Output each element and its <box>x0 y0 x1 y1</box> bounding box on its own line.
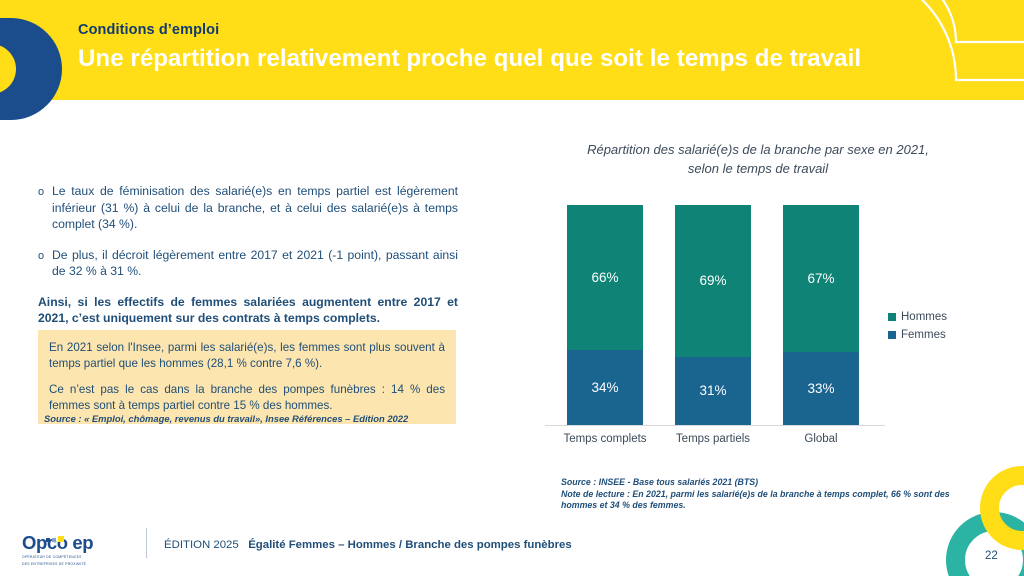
logo-tagline-line-2: DES ENTREPRISES DE PROXIMITÉ <box>22 562 114 567</box>
footer-document-label: Égalité Femmes – Hommes / Branche des po… <box>248 539 571 551</box>
x-axis-tick-label: Temps partiels <box>658 433 768 445</box>
bar-group-temps-partiels[interactable]: 69% 31% Temps partiels <box>675 205 751 425</box>
x-axis-tick-label: Temps complets <box>550 433 660 445</box>
footer-divider <box>146 528 147 558</box>
chart-title: Répartition des salarié(e)s de la branch… <box>528 140 988 178</box>
bar-group-global[interactable]: 67% 33% Global <box>783 205 859 425</box>
bar-segment-hommes[interactable]: 67% <box>783 205 859 352</box>
legend-label: Hommes <box>901 311 947 323</box>
footer-text: ÉDITION 2025 Égalité Femmes – Hommes / B… <box>164 539 572 551</box>
header-text-block: Conditions d’emploi Une répartition rela… <box>78 21 958 75</box>
logo-dots-icon <box>46 524 66 542</box>
chart-source-line-1: Source : INSEE - Base tous salariés 2021… <box>561 477 961 489</box>
chart-title-line-1: Répartition des salarié(e)s de la branch… <box>587 142 929 157</box>
chart-x-axis <box>545 425 885 426</box>
bullet-item: o Le taux de féminisation des salarié(e)… <box>38 183 458 233</box>
legend-label: Femmes <box>901 329 946 341</box>
bullet-marker-icon: o <box>38 247 52 265</box>
legend-swatch-icon <box>888 313 896 321</box>
chart-legend: Hommes Femmes <box>888 311 947 347</box>
callout-paragraph: Ce n’est pas le cas dans la branche des … <box>49 382 445 413</box>
page-number: 22 <box>985 550 998 562</box>
bullet-text: De plus, il décroit légèrement entre 201… <box>52 247 458 280</box>
x-axis-tick-label: Global <box>766 433 876 445</box>
page-title: Une répartition relativement proche quel… <box>78 43 958 75</box>
bar-value-label: 31% <box>699 383 726 398</box>
left-source-note: Source : « Emploi, chômage, revenus du t… <box>44 412 464 425</box>
logo-dot-medium <box>52 538 56 542</box>
legend-item-hommes[interactable]: Hommes <box>888 311 947 323</box>
left-content-column: o Le taux de féminisation des salarié(e)… <box>38 183 458 327</box>
chart-source-line-2: Note de lecture : En 2021, parmi les sal… <box>561 489 961 512</box>
bar-segment-hommes[interactable]: 69% <box>675 205 751 357</box>
header-eyebrow: Conditions d’emploi <box>78 21 958 39</box>
logo-dot-yellow <box>58 536 64 542</box>
logo-wordmark: Opco ep <box>22 533 114 553</box>
chart-title-line-2: selon le temps de travail <box>688 161 828 176</box>
footer-edition-label: ÉDITION 2025 <box>164 539 239 551</box>
bar-segment-femmes[interactable]: 33% <box>783 352 859 425</box>
opco-ep-logo[interactable]: Opco ep OPÉRATEUR DE COMPÉTENCES DES ENT… <box>22 524 114 568</box>
bar-value-label: 67% <box>807 271 834 286</box>
bullet-item: o De plus, il décroit légèrement entre 2… <box>38 247 458 280</box>
bar-value-label: 66% <box>591 270 618 285</box>
bar-value-label: 69% <box>699 273 726 288</box>
chart-source-note: Source : INSEE - Base tous salariés 2021… <box>561 477 961 512</box>
slide: Conditions d’emploi Une répartition rela… <box>0 0 1024 576</box>
legend-swatch-icon <box>888 331 896 339</box>
bar-value-label: 34% <box>591 380 618 395</box>
bar-segment-femmes[interactable]: 31% <box>675 357 751 425</box>
bar-group-temps-complets[interactable]: 66% 34% Temps complets <box>567 205 643 425</box>
logo-dot-small <box>46 538 50 542</box>
bar-segment-femmes[interactable]: 34% <box>567 350 643 425</box>
chart-plot-area: 66% 34% Temps complets 69% 31% Temps par… <box>545 205 885 425</box>
bar-value-label: 33% <box>807 381 834 396</box>
callout-paragraph: En 2021 selon l'Insee, parmi les salarié… <box>49 340 445 371</box>
legend-item-femmes[interactable]: Femmes <box>888 329 947 341</box>
callout-box: En 2021 selon l'Insee, parmi les salarié… <box>38 330 456 424</box>
bullet-text: Le taux de féminisation des salarié(e)s … <box>52 183 458 233</box>
bar-segment-hommes[interactable]: 66% <box>567 205 643 350</box>
logo-tagline-line-1: OPÉRATEUR DE COMPÉTENCES <box>22 555 114 560</box>
conclusion-paragraph: Ainsi, si les effectifs de femmes salari… <box>38 294 458 327</box>
bullet-marker-icon: o <box>38 183 52 201</box>
